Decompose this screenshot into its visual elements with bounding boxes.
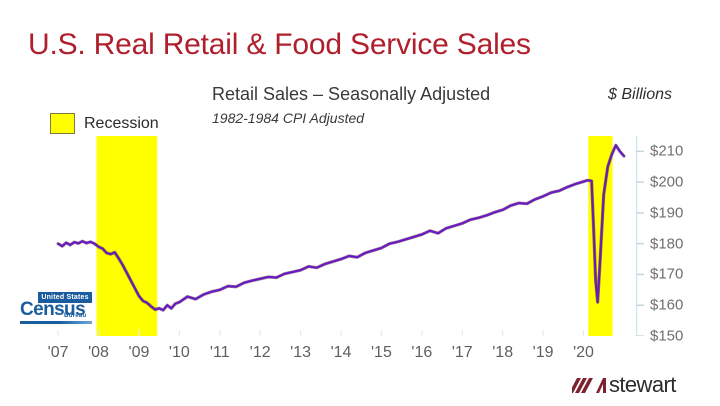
page-title: U.S. Real Retail & Food Service Sales bbox=[28, 28, 531, 62]
chart-svg bbox=[46, 136, 632, 336]
x-tick-label: '15 bbox=[371, 344, 392, 362]
census-logo-rule bbox=[20, 321, 92, 324]
x-tick-label: '12 bbox=[250, 344, 271, 362]
census-logo-sub-text: Bureau bbox=[64, 313, 86, 319]
census-bureau-logo: United States Census Bureau bbox=[20, 292, 92, 328]
y-tick-label: $150 bbox=[650, 328, 683, 345]
chart-subtitle: Retail Sales – Seasonally Adjusted bbox=[212, 84, 490, 105]
recession-legend-swatch bbox=[50, 113, 75, 134]
y-tick-label: $160 bbox=[650, 297, 683, 314]
x-tick-label: '09 bbox=[129, 344, 150, 362]
chart-page: U.S. Real Retail & Food Service Sales Re… bbox=[0, 0, 720, 406]
x-axis: '07'08'09'10'11'12'13'14'15'16'17'18'19'… bbox=[46, 340, 632, 368]
y-tick-label: $180 bbox=[650, 235, 683, 252]
x-tick-label: '13 bbox=[290, 344, 311, 362]
x-tick-label: '14 bbox=[331, 344, 352, 362]
recession-band bbox=[97, 136, 158, 336]
y-tick-label: $190 bbox=[650, 204, 683, 221]
stewart-logo: stewart bbox=[572, 374, 676, 396]
x-tick-label: '20 bbox=[573, 344, 594, 362]
stewart-mark-icon bbox=[572, 374, 606, 396]
y-tick-label: $200 bbox=[650, 174, 683, 191]
x-tick-label: '19 bbox=[533, 344, 554, 362]
y-tick-label: $210 bbox=[650, 143, 683, 160]
chart-subtitle-note: 1982-1984 CPI Adjusted bbox=[212, 110, 364, 126]
x-tick-label: '16 bbox=[411, 344, 432, 362]
x-tick-label: '07 bbox=[48, 344, 69, 362]
chart-plot-area bbox=[46, 136, 632, 336]
x-tick-label: '18 bbox=[492, 344, 513, 362]
x-tick-label: '11 bbox=[210, 344, 230, 362]
x-tick-label: '17 bbox=[452, 344, 473, 362]
x-tick-label: '08 bbox=[88, 344, 109, 362]
chart-legend: Recession bbox=[50, 113, 159, 134]
y-axis: $210$200$190$180$170$160$150 bbox=[636, 136, 716, 336]
stewart-wordmark: stewart bbox=[609, 374, 676, 396]
recession-legend-label: Recession bbox=[84, 115, 159, 133]
y-tick-label: $170 bbox=[650, 266, 683, 283]
x-tick-label: '10 bbox=[169, 344, 190, 362]
y-axis-units-label: $ Billions bbox=[608, 86, 672, 104]
